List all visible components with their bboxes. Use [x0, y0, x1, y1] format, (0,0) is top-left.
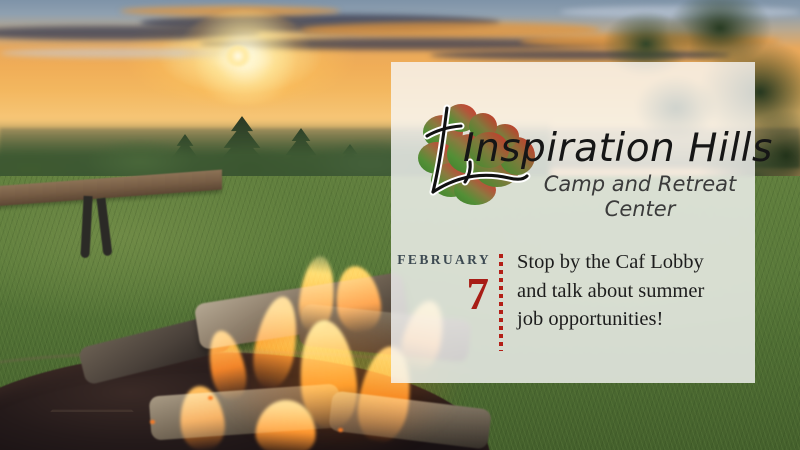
ember: [150, 420, 155, 424]
event-month: FEBRUARY: [391, 252, 491, 268]
event-info-row: FEBRUARY 7 Stop by the Caf Lobby and tal…: [391, 252, 755, 372]
logo-tagline: Camp and Retreat Center: [531, 172, 749, 222]
logo-wordmark: Inspiration Hills: [463, 126, 753, 171]
ember: [338, 428, 343, 432]
dotted-divider: [499, 254, 503, 351]
info-card: Inspiration Hills Camp and Retreat Cente…: [391, 62, 755, 383]
poster-root: Inspiration Hills Camp and Retreat Cente…: [0, 0, 800, 450]
event-day: 7: [391, 270, 491, 318]
event-date: FEBRUARY 7: [391, 252, 491, 318]
logo-block: Inspiration Hills Camp and Retreat Cente…: [391, 88, 755, 248]
ember: [208, 396, 213, 400]
sun-disk: [225, 45, 251, 67]
event-message: Stop by the Caf Lobby and talk about sum…: [517, 248, 753, 334]
